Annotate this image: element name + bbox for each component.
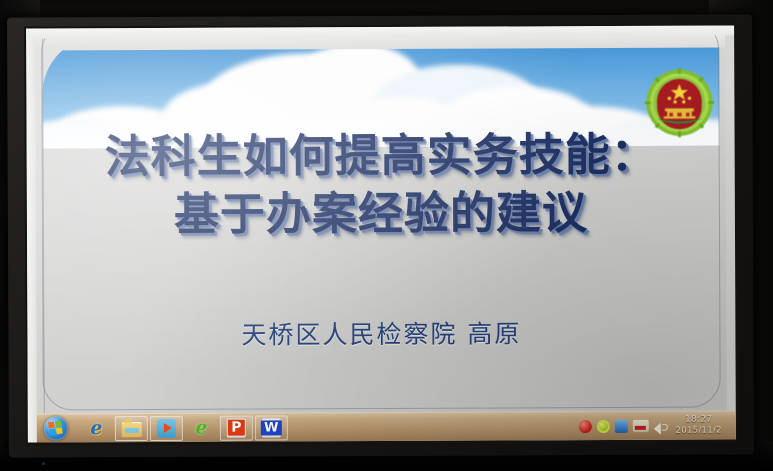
media-player-icon bbox=[157, 418, 176, 437]
photograph-of-display: 法科生如何提高实务技能： 基于办案经验的建议 天桥区人民检察院 高原 bbox=[0, 0, 773, 471]
folder-icon bbox=[122, 419, 141, 438]
security-shield-red-icon[interactable] bbox=[579, 420, 592, 433]
taskbar-item-green-browser[interactable]: e bbox=[185, 415, 218, 440]
taskbar-item-media-player[interactable] bbox=[150, 415, 183, 440]
slide-title-block: 法科生如何提高实务技能： 基于办案经验的建议 bbox=[36, 125, 726, 244]
taskbar-item-wps-writer[interactable]: W bbox=[255, 415, 288, 440]
wps-presentation-icon: P bbox=[227, 418, 246, 437]
volume-icon[interactable] bbox=[654, 419, 668, 432]
display-screen: 法科生如何提高实务技能： 基于办案经验的建议 天桥区人民检察院 高原 bbox=[26, 25, 736, 442]
taskbar-item-windows-explorer[interactable] bbox=[115, 416, 148, 441]
clock-time: 18:27 bbox=[675, 415, 721, 426]
input-method-icon[interactable] bbox=[633, 420, 649, 432]
system-tray[interactable]: 18:27 2015/11/2 bbox=[578, 411, 735, 441]
wps-writer-icon: W bbox=[262, 418, 281, 437]
powerpoint-slide: 法科生如何提高实务技能： 基于办案经验的建议 天桥区人民检察院 高原 bbox=[35, 33, 727, 413]
taskbar-item-wps-presentation[interactable]: P bbox=[220, 415, 253, 440]
taskbar-clock[interactable]: 18:27 2015/11/2 bbox=[675, 414, 731, 436]
dust-speck bbox=[42, 462, 45, 465]
monitor-bezel: 法科生如何提高实务技能： 基于办案经验的建议 天桥区人民检察院 高原 bbox=[7, 14, 754, 457]
windows-logo-icon bbox=[48, 421, 63, 436]
network-icon[interactable] bbox=[615, 419, 628, 432]
green-browser-icon: e bbox=[192, 418, 211, 437]
internet-explorer-icon: e bbox=[87, 419, 106, 438]
monitor-inner-frame: 法科生如何提高实务技能： 基于办案经验的建议 天桥区人民检察院 高原 bbox=[24, 23, 738, 445]
windows-taskbar[interactable]: e e bbox=[28, 410, 736, 442]
start-button[interactable] bbox=[44, 416, 68, 440]
slide-title-line-2: 基于办案经验的建议 bbox=[36, 183, 726, 244]
taskbar-item-internet-explorer[interactable]: e bbox=[80, 416, 113, 441]
security-shield-green-icon[interactable] bbox=[597, 420, 610, 433]
slide-subtitle: 天桥区人民检察院 高原 bbox=[36, 313, 726, 352]
screen-left-highlight bbox=[26, 29, 37, 443]
slide-title-line-1: 法科生如何提高实务技能： bbox=[36, 125, 726, 186]
clock-date: 2015/11/2 bbox=[676, 426, 722, 437]
